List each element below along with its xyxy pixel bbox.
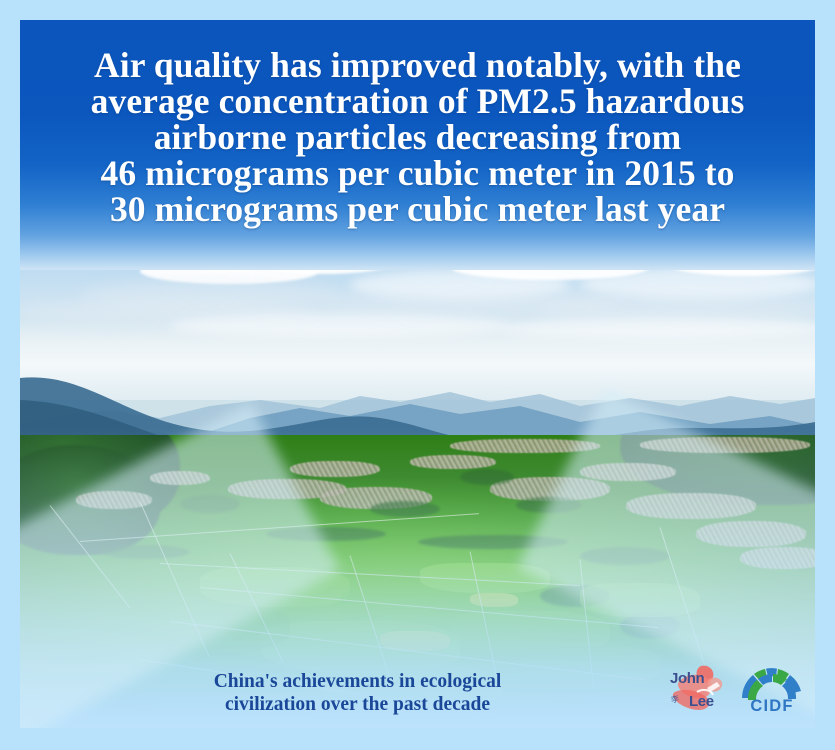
- poster-canvas: Air quality has improved notably, with t…: [20, 20, 815, 728]
- john-lee-line-2: Lee: [689, 693, 714, 710]
- headline-line-5: 30 micrograms per cubic meter last year: [48, 191, 787, 227]
- caption-line-1: China's achievements in ecological: [20, 670, 695, 693]
- caption-line-2: civilization over the past decade: [20, 693, 695, 716]
- poster: Air quality has improved notably, with t…: [0, 0, 835, 750]
- headline-line-3: airborne particles decreasing from: [48, 119, 787, 155]
- cidf-logo[interactable]: CIDF: [735, 660, 809, 716]
- logo-group: John Lee 李: [667, 660, 809, 716]
- john-lee-line-1: John: [670, 670, 704, 687]
- headline-line-4: 46 micrograms per cubic meter in 2015 to: [48, 155, 787, 191]
- cidf-arcs-icon: [735, 660, 809, 700]
- headline-line-2: average concentration of PM2.5 hazardous: [48, 83, 787, 119]
- cidf-label: CIDF: [735, 697, 809, 716]
- headline-line-1: Air quality has improved notably, with t…: [48, 47, 787, 83]
- headline: Air quality has improved notably, with t…: [20, 47, 815, 227]
- john-lee-logo[interactable]: John Lee 李: [667, 662, 729, 716]
